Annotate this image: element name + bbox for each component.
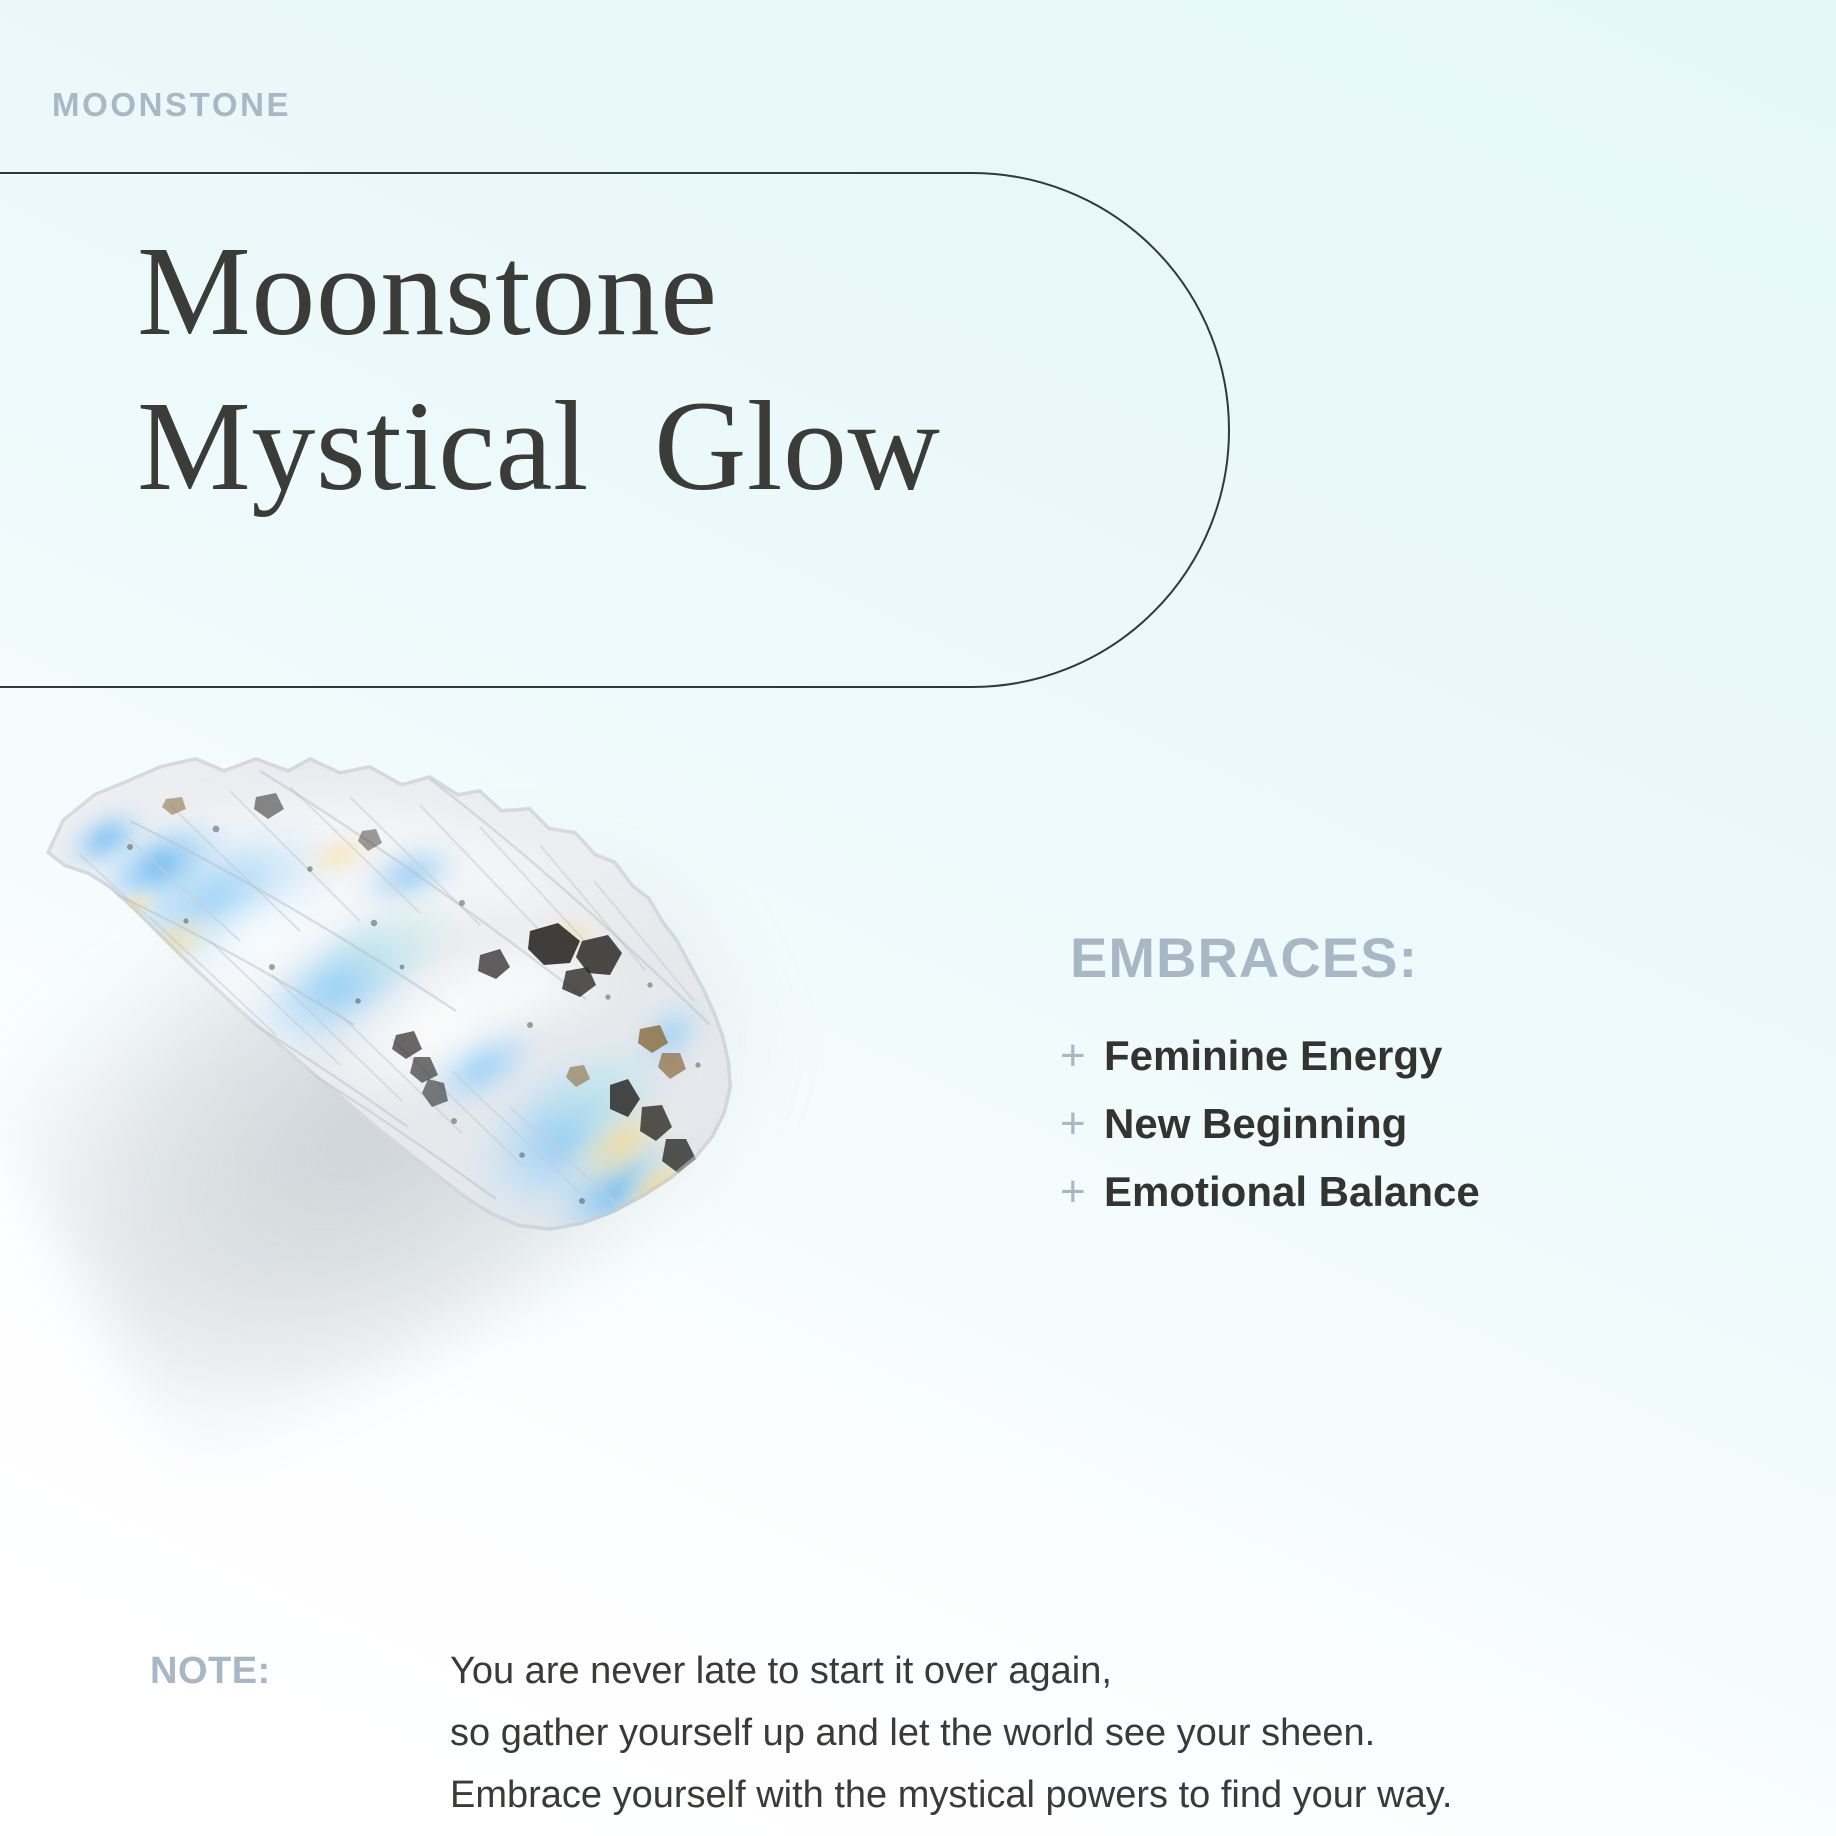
plus-icon: + <box>1060 1164 1104 1220</box>
embraces-heading: EMBRACES: <box>1070 930 1760 986</box>
embrace-item: + New Beginning <box>1060 1096 1760 1152</box>
title-card: Moonstone Mystical Glow <box>0 172 1230 688</box>
plus-icon: + <box>1060 1028 1104 1084</box>
moonstone-image-container <box>0 735 930 1425</box>
embrace-item-label: New Beginning <box>1104 1096 1407 1152</box>
note-section: NOTE: You are never late to start it ove… <box>150 1640 1810 1826</box>
page-title-line-2: Mystical Glow <box>137 369 1197 524</box>
note-body: You are never late to start it over agai… <box>450 1640 1810 1826</box>
embrace-item-label: Emotional Balance <box>1104 1164 1480 1220</box>
embrace-item: + Feminine Energy <box>1060 1028 1760 1084</box>
eyebrow-label: MOONSTONE <box>52 88 291 121</box>
note-line: Embrace yourself with the mystical power… <box>450 1764 1810 1826</box>
embrace-item: + Emotional Balance <box>1060 1164 1760 1220</box>
plus-icon: + <box>1060 1096 1104 1152</box>
note-line: so gather yourself up and let the world … <box>450 1702 1810 1764</box>
note-label: NOTE: <box>150 1640 450 1702</box>
embraces-section: EMBRACES: + Feminine Energy + New Beginn… <box>1060 930 1760 1232</box>
page-title-line-1: Moonstone <box>137 214 1197 369</box>
title-block: Moonstone Mystical Glow <box>137 214 1197 524</box>
moonstone-crystal-icon <box>10 735 800 1325</box>
embrace-item-label: Feminine Energy <box>1104 1028 1442 1084</box>
note-line: You are never late to start it over agai… <box>450 1640 1810 1702</box>
poster-canvas: MOONSTONE Moonstone Mystical Glow <box>0 0 1836 1836</box>
